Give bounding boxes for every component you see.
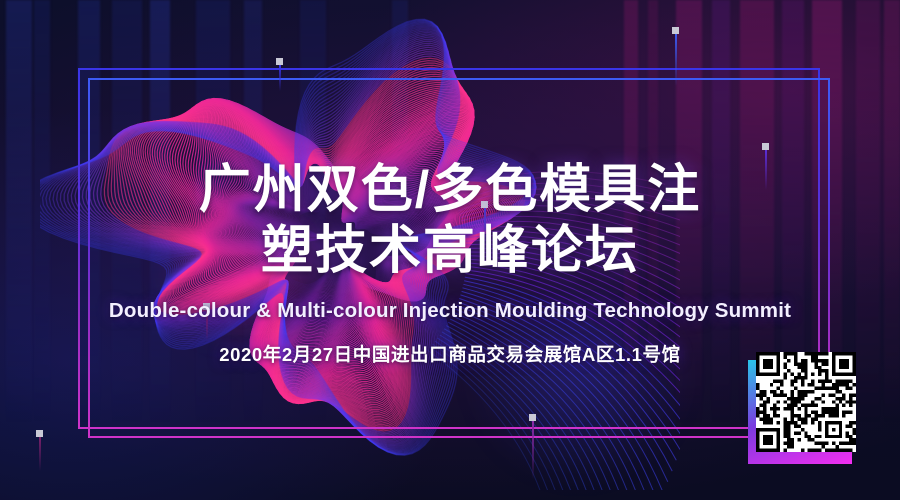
qr-block[interactable] (748, 352, 860, 464)
contour-strand (427, 350, 556, 490)
event-banner: 广州双色/多色模具注 塑技术高峰论坛 Double-colour & Multi… (0, 0, 900, 500)
accent-dot (672, 27, 679, 34)
accent-dot (529, 414, 536, 421)
accent-dot (276, 58, 283, 65)
accent-dot (762, 143, 769, 150)
contour-strand (430, 347, 565, 490)
accent-line (279, 65, 281, 91)
title-block: 广州双色/多色模具注 塑技术高峰论坛 Double-colour & Multi… (0, 160, 900, 367)
title-cn-line2: 塑技术高峰论坛 (0, 221, 900, 282)
title-cn-line1: 广州双色/多色模具注 (0, 160, 900, 221)
accent-dot (36, 430, 43, 437)
accent-line (39, 437, 41, 471)
accent-line (532, 421, 534, 479)
accent-line (675, 34, 677, 86)
qr-canvas (756, 352, 856, 452)
qr-code[interactable] (756, 352, 856, 452)
subtitle-english: Double-colour & Multi-colour Injection M… (0, 299, 900, 323)
